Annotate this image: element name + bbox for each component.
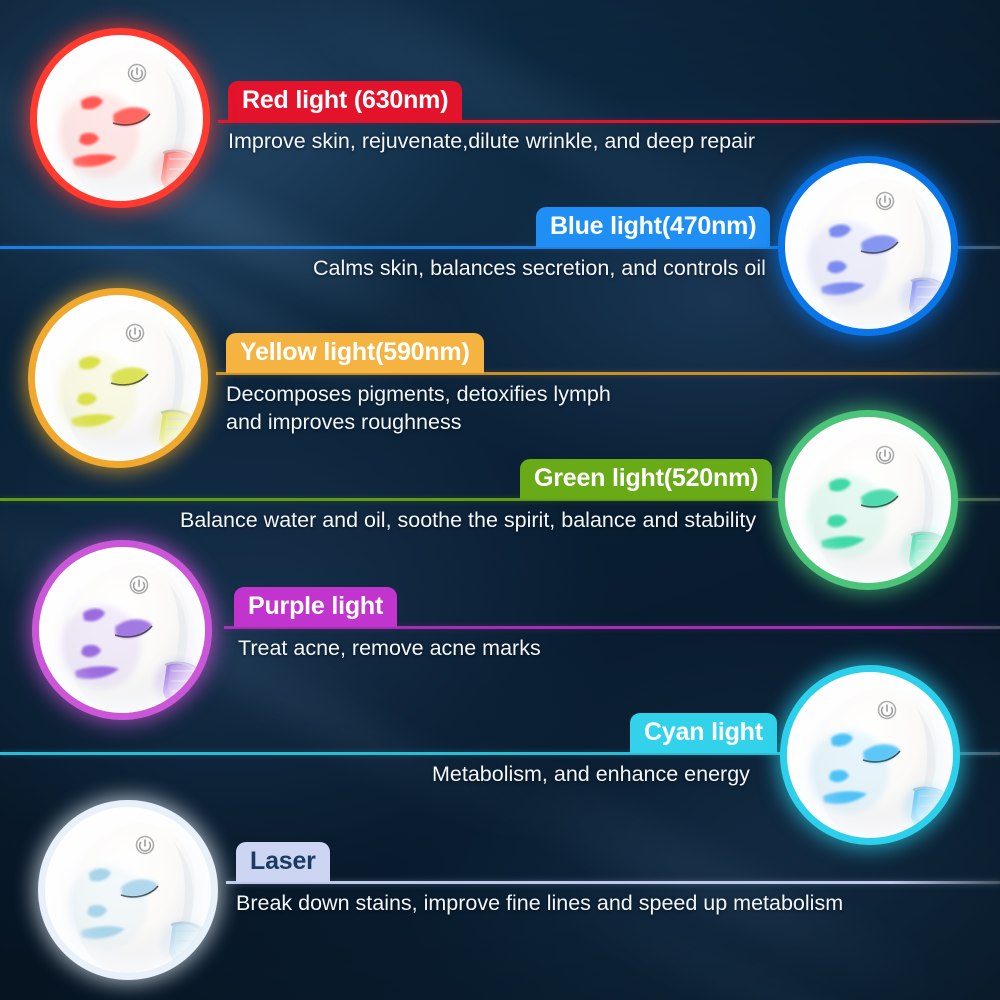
mask-photo	[37, 35, 203, 201]
badge-red[interactable]: Red light (630nm)	[228, 81, 462, 121]
mask-image-laser	[38, 800, 218, 980]
mask-inner-glow	[785, 417, 951, 583]
mask-inner-glow	[787, 672, 953, 838]
mask-photo	[787, 672, 953, 838]
mask-image-yellow	[28, 288, 208, 468]
mask-inner-glow	[45, 807, 211, 973]
badge-green[interactable]: Green light(520nm)	[520, 459, 772, 499]
mask-inner-glow	[35, 295, 201, 461]
infographic-poster: Red light (630nm) Improve skin, rejuvena…	[0, 0, 1000, 1000]
mask-inner-glow	[785, 163, 951, 329]
description-red: Improve skin, rejuvenate,dilute wrinkle,…	[228, 128, 968, 156]
badge-cyan[interactable]: Cyan light	[630, 713, 777, 753]
divider-laser	[226, 881, 1000, 884]
mask-photo	[785, 417, 951, 583]
mask-photo	[45, 807, 211, 973]
badge-laser[interactable]: Laser	[236, 842, 330, 882]
mask-photo	[39, 547, 205, 713]
badge-blue[interactable]: Blue light(470nm)	[536, 207, 770, 247]
badge-yellow[interactable]: Yellow light(590nm)	[226, 333, 484, 373]
mask-image-green	[778, 410, 958, 590]
mask-photo	[785, 163, 951, 329]
mask-image-red	[30, 28, 210, 208]
mask-image-cyan	[780, 665, 960, 845]
description-laser: Break down stains, improve fine lines an…	[236, 890, 956, 918]
mask-inner-glow	[39, 547, 205, 713]
badge-purple[interactable]: Purple light	[234, 587, 397, 627]
mask-image-purple	[32, 540, 212, 720]
mask-photo	[35, 295, 201, 461]
description-purple: Treat acne, remove acne marks	[238, 635, 938, 663]
mask-image-blue	[778, 156, 958, 336]
mask-inner-glow	[37, 35, 203, 201]
